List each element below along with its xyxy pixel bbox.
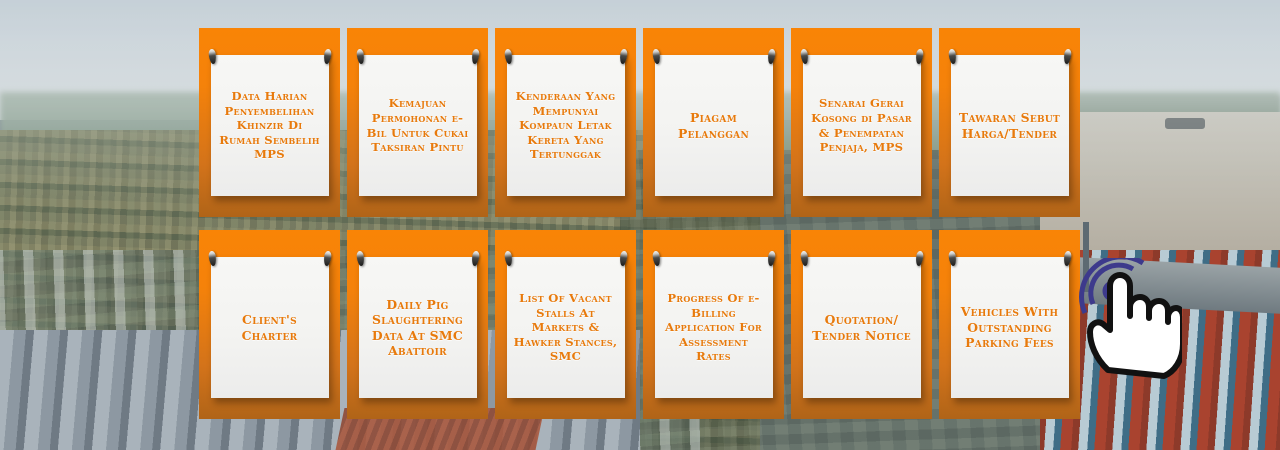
pin-icon (948, 49, 957, 65)
tile-sheet: Daily Pig Slaughtering Data At SMC Abatt… (359, 257, 477, 398)
pin-icon (504, 251, 513, 267)
tile-sheet: Kemajuan Permohonan e-Bil Untuk Cukai Ta… (359, 55, 477, 196)
tile-label: Vehicles With Outstanding Parking Fees (957, 304, 1063, 350)
tile-sheet: Tawaran Sebut Harga/Tender (951, 55, 1069, 196)
tile-label: Data Harian Penyembelihan Khinzir Di Rum… (217, 89, 323, 162)
pin-icon (948, 251, 957, 267)
tile-tawaran-sebut-harga-tender[interactable]: Tawaran Sebut Harga/Tender (939, 28, 1080, 217)
tile-progress-of-e-billing-application[interactable]: Progress Of e-Billing Application For As… (643, 230, 784, 419)
pin-icon (471, 251, 480, 267)
tile-label: Tawaran Sebut Harga/Tender (957, 110, 1063, 141)
pin-icon (208, 49, 217, 65)
tile-daily-pig-slaughtering-data[interactable]: Daily Pig Slaughtering Data At SMC Abatt… (347, 230, 488, 419)
pin-icon (652, 49, 661, 65)
tile-label: Kenderaan Yang Mempunyai Kompaun Letak K… (513, 89, 619, 162)
tile-senarai-gerai-kosong[interactable]: Senarai Gerai Kosong di Pasar & Penempat… (791, 28, 932, 217)
tile-sheet: Quotation/ Tender Notice (803, 257, 921, 398)
pin-icon (1063, 49, 1072, 65)
tile-piagam-pelanggan[interactable]: Piagam Pelanggan (643, 28, 784, 217)
tile-sheet: Senarai Gerai Kosong di Pasar & Penempat… (803, 55, 921, 196)
tile-sheet: List Of Vacant Stalls At Markets & Hawke… (507, 257, 625, 398)
tile-sheet: Data Harian Penyembelihan Khinzir Di Rum… (211, 55, 329, 196)
tile-label: Senarai Gerai Kosong di Pasar & Penempat… (809, 96, 915, 154)
pin-icon (323, 49, 332, 65)
tile-sheet: Progress Of e-Billing Application For As… (655, 257, 773, 398)
pin-icon (356, 49, 365, 65)
pin-icon (504, 49, 513, 65)
tile-vehicles-with-outstanding-parking-fees[interactable]: Vehicles With Outstanding Parking Fees (939, 230, 1080, 419)
pin-icon (767, 251, 776, 267)
pin-icon (915, 49, 924, 65)
pin-icon (208, 251, 217, 267)
tile-list-of-vacant-stalls[interactable]: List Of Vacant Stalls At Markets & Hawke… (495, 230, 636, 419)
pin-icon (323, 251, 332, 267)
pin-icon (652, 251, 661, 267)
pin-icon (619, 251, 628, 267)
tile-label: Kemajuan Permohonan e-Bil Untuk Cukai Ta… (365, 96, 471, 154)
tile-label: Piagam Pelanggan (661, 110, 767, 141)
pin-icon (800, 49, 809, 65)
tile-sheet: Kenderaan Yang Mempunyai Kompaun Letak K… (507, 55, 625, 196)
pin-icon (1063, 251, 1072, 267)
boat-icon (1165, 118, 1205, 129)
pin-icon (619, 49, 628, 65)
tile-label: Quotation/ Tender Notice (809, 312, 915, 343)
tile-sheet: Piagam Pelanggan (655, 55, 773, 196)
tile-label: Progress Of e-Billing Application For As… (661, 291, 767, 364)
pin-icon (471, 49, 480, 65)
tile-label: Client's Charter (217, 312, 323, 343)
tile-kenderaan-kompaun-letak-kereta[interactable]: Kenderaan Yang Mempunyai Kompaun Letak K… (495, 28, 636, 217)
pin-icon (767, 49, 776, 65)
tile-sheet: Client's Charter (211, 257, 329, 398)
tile-label: List Of Vacant Stalls At Markets & Hawke… (513, 291, 619, 364)
tile-sheet: Vehicles With Outstanding Parking Fees (951, 257, 1069, 398)
pin-icon (915, 251, 924, 267)
pin-icon (800, 251, 809, 267)
port-crane (1083, 222, 1089, 292)
tile-label: Daily Pig Slaughtering Data At SMC Abatt… (365, 297, 471, 359)
tile-clients-charter[interactable]: Client's Charter (199, 230, 340, 419)
tile-kemajuan-permohonan-e-bil[interactable]: Kemajuan Permohonan e-Bil Untuk Cukai Ta… (347, 28, 488, 217)
tile-quotation-tender-notice[interactable]: Quotation/ Tender Notice (791, 230, 932, 419)
page-stage: Data Harian Penyembelihan Khinzir Di Rum… (0, 0, 1280, 450)
pin-icon (356, 251, 365, 267)
quick-link-grid: Data Harian Penyembelihan Khinzir Di Rum… (199, 28, 1080, 419)
tile-data-harian-penyembelihan-khinzir[interactable]: Data Harian Penyembelihan Khinzir Di Rum… (199, 28, 340, 217)
